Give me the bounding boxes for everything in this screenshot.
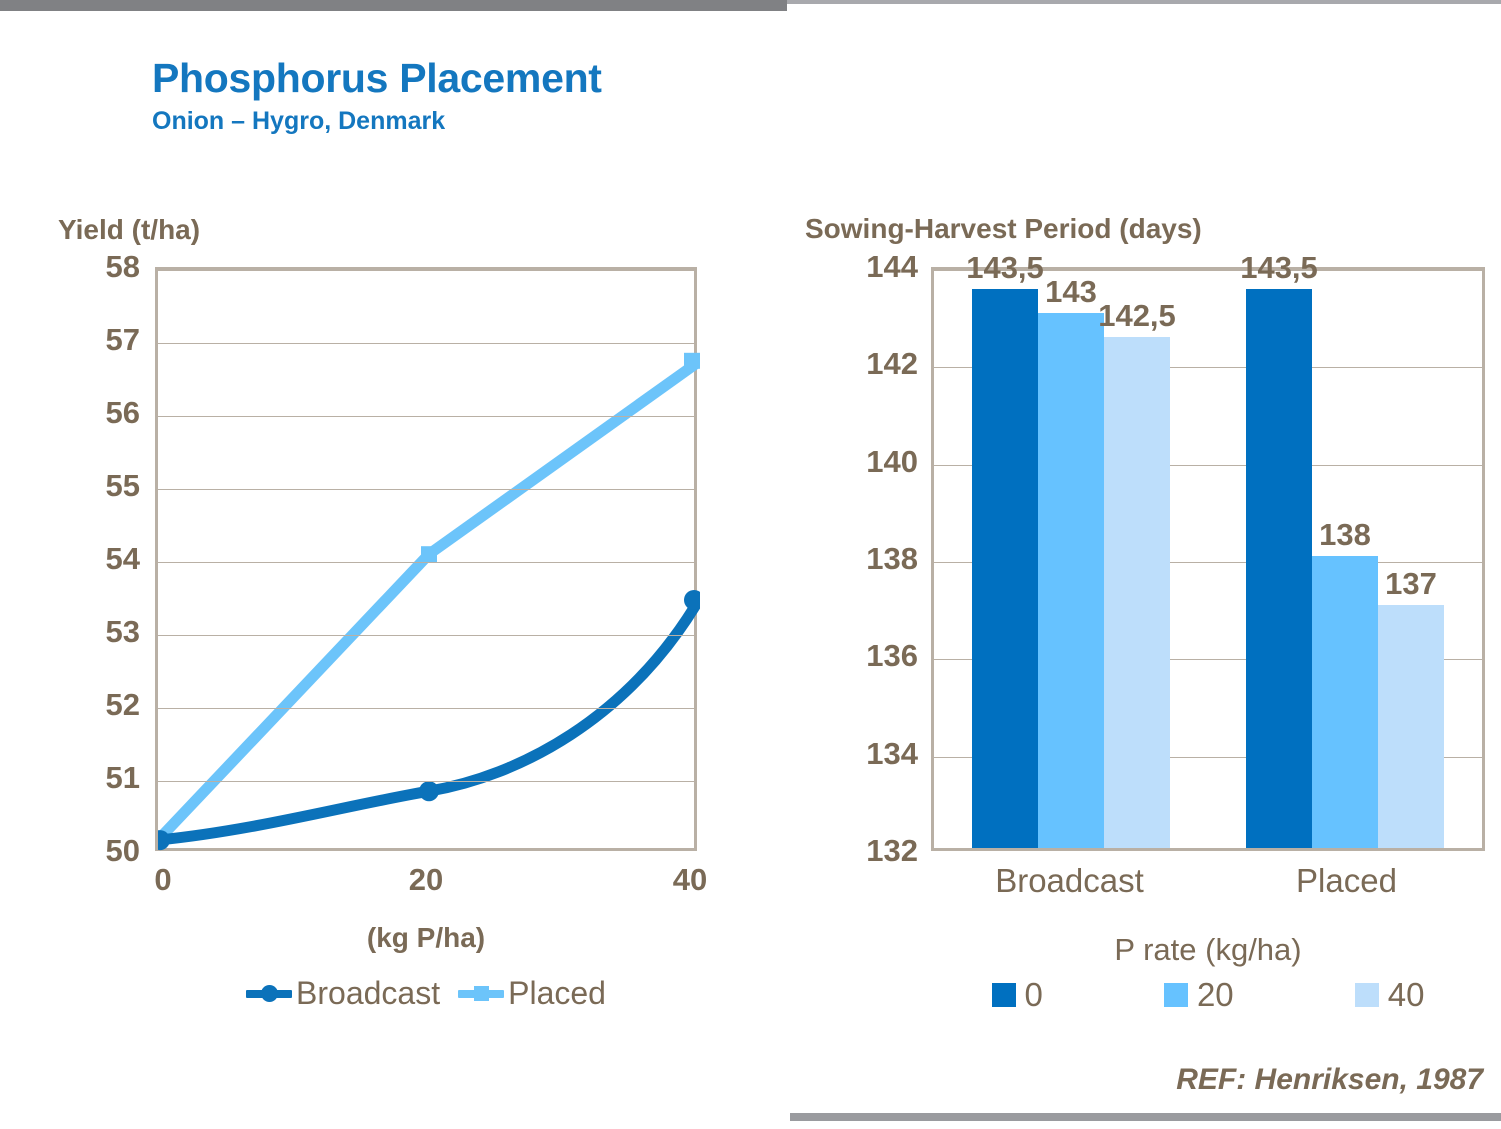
y-tick-label: 55 (106, 468, 140, 504)
bar-chart-x-ticks: Broadcast Placed (931, 862, 1485, 912)
gridline (158, 781, 694, 782)
legend-item-placed[interactable]: Placed (458, 975, 606, 1012)
y-tick-label: 134 (866, 736, 918, 772)
marker-placed-20 (421, 546, 437, 562)
legend-label-rate-20: 20 (1197, 976, 1234, 1014)
legend-item-rate-0[interactable]: 0 (992, 976, 1043, 1014)
bar-broadcast-0[interactable]: 143,5 (972, 289, 1038, 848)
series-line-placed (158, 361, 700, 840)
gridline (158, 562, 694, 563)
bar-chart-legend-title: P rate (kg/ha) (931, 932, 1485, 968)
y-tick-label: 57 (106, 322, 140, 358)
bar-chart-title: Sowing-Harvest Period (days) (805, 213, 1202, 245)
line-chart-y-ticks: 58 57 56 55 54 53 52 51 50 (78, 267, 140, 851)
y-tick-label: 142 (866, 346, 918, 382)
gridline (158, 343, 694, 344)
marker-broadcast-40 (684, 590, 700, 610)
legend-swatch-icon (1355, 983, 1379, 1007)
legend-label-broadcast: Broadcast (296, 975, 440, 1012)
y-tick-label: 58 (106, 249, 140, 285)
bar-value-label: 143,5 (966, 250, 1044, 286)
gridline (158, 416, 694, 417)
x-tick-label: 40 (673, 862, 707, 898)
legend-item-rate-40[interactable]: 40 (1355, 976, 1425, 1014)
y-tick-label: 56 (106, 395, 140, 431)
bar-broadcast-20[interactable]: 143 (1038, 313, 1104, 848)
legend-line-placed-icon (458, 990, 504, 998)
line-chart-y-axis-title: Yield (t/ha) (58, 214, 200, 246)
line-chart-legend: Broadcast Placed (155, 975, 697, 1012)
y-tick-label: 54 (106, 541, 140, 577)
legend-swatch-icon (992, 983, 1016, 1007)
bar-value-label: 143,5 (1240, 250, 1318, 286)
bar-chart-y-ticks: 144 142 140 138 136 134 132 (830, 267, 918, 851)
legend-swatch-icon (1164, 983, 1188, 1007)
bar-broadcast-40[interactable]: 142,5 (1104, 337, 1170, 848)
legend-item-rate-20[interactable]: 20 (1164, 976, 1234, 1014)
bar-group-placed: 143,5 138 137 (1208, 270, 1482, 848)
line-chart-x-ticks: 0 20 40 (155, 862, 697, 906)
legend-label-placed: Placed (508, 975, 606, 1012)
bar-value-label: 143 (1045, 274, 1097, 310)
category-label-placed: Placed (1208, 862, 1485, 912)
y-tick-label: 144 (866, 249, 918, 285)
bar-chart-legend: 0 20 40 (931, 976, 1485, 1014)
gridline (158, 708, 694, 709)
legend-item-broadcast[interactable]: Broadcast (246, 975, 440, 1012)
x-tick-label: 0 (154, 862, 171, 898)
bar-placed-40[interactable]: 137 (1378, 605, 1444, 848)
y-tick-label: 51 (106, 760, 140, 796)
bar-placed-20[interactable]: 138 (1312, 556, 1378, 848)
marker-placed-40 (684, 353, 700, 369)
category-label-broadcast: Broadcast (931, 862, 1208, 912)
bar-value-label: 138 (1319, 517, 1371, 553)
line-chart-plot-area (155, 267, 697, 851)
line-chart-x-axis-title: (kg P/ha) (155, 922, 697, 954)
gridline (158, 635, 694, 636)
bar-chart-plot-area: 143,5 143 142,5 143,5 138 137 (931, 267, 1485, 851)
y-tick-label: 132 (866, 833, 918, 869)
y-tick-label: 140 (866, 444, 918, 480)
legend-line-broadcast-icon (246, 990, 292, 998)
y-tick-label: 138 (866, 541, 918, 577)
gridline (158, 270, 694, 271)
bar-placed-0[interactable]: 143,5 (1246, 289, 1312, 848)
gridline (158, 489, 694, 490)
bar-groups: 143,5 143 142,5 143,5 138 137 (934, 270, 1482, 848)
marker-broadcast-20 (419, 781, 439, 801)
bar-group-broadcast: 143,5 143 142,5 (934, 270, 1208, 848)
y-tick-label: 53 (106, 614, 140, 650)
yield-line-chart-panel: Yield (t/ha) 58 57 56 55 5 (0, 0, 790, 1129)
x-tick-label: 20 (409, 862, 443, 898)
bar-value-label: 142,5 (1098, 298, 1176, 334)
sowing-harvest-bar-chart-panel: Sowing-Harvest Period (days) 143,5 143 1… (790, 0, 1501, 1129)
y-tick-label: 136 (866, 638, 918, 674)
legend-label-rate-40: 40 (1388, 976, 1425, 1014)
legend-label-rate-0: 0 (1025, 976, 1043, 1014)
y-tick-label: 52 (106, 687, 140, 723)
y-tick-label: 50 (106, 833, 140, 869)
bar-value-label: 137 (1385, 566, 1437, 602)
reference-text: REF: Henriksen, 1987 (790, 1063, 1483, 1097)
